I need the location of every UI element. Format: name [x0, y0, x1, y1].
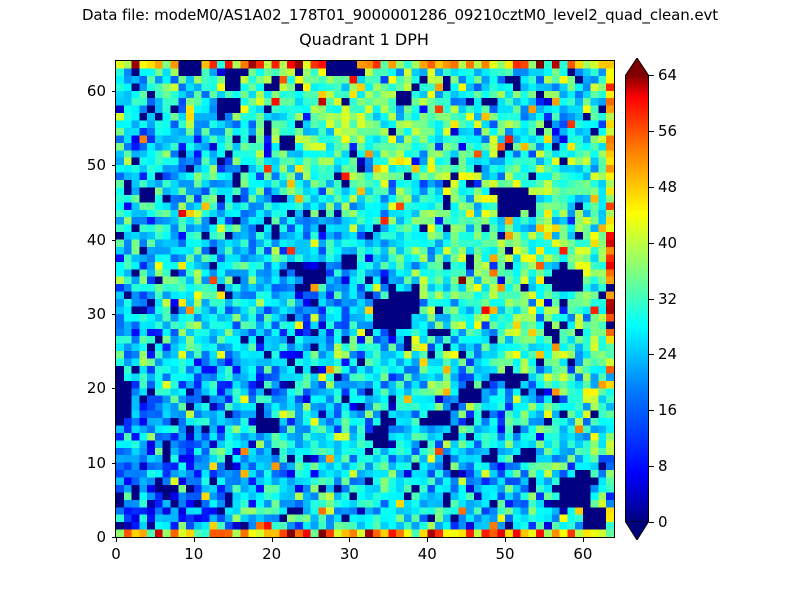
- colorbar-extend-max-arrow-icon: [625, 58, 649, 76]
- y-tick-mark: [112, 165, 116, 166]
- y-tick-label: 10: [87, 454, 106, 472]
- colorbar-tick-mark: [649, 131, 654, 132]
- colorbar-tick-mark: [649, 466, 654, 467]
- y-tick-mark: [112, 240, 116, 241]
- colorbar-tick-mark: [649, 354, 654, 355]
- y-tick-label: 0: [96, 528, 106, 546]
- y-tick-label: 60: [87, 82, 106, 100]
- colorbar-tick-label: 24: [658, 345, 677, 363]
- colorbar-tick-label: 32: [658, 290, 677, 308]
- x-tick-mark: [349, 538, 350, 542]
- x-tick-label: 10: [184, 545, 203, 563]
- y-tick-label: 30: [87, 305, 106, 323]
- x-tick-label: 30: [340, 545, 359, 563]
- y-tick-mark: [112, 314, 116, 315]
- y-tick-mark: [112, 91, 116, 92]
- x-tick-mark: [505, 538, 506, 542]
- y-tick-mark: [112, 537, 116, 538]
- figure-canvas: Data file: modeM0/AS1A02_178T01_90000012…: [0, 0, 800, 600]
- x-tick-label: 60: [573, 545, 592, 563]
- y-tick-label: 20: [87, 379, 106, 397]
- x-tick-label: 40: [418, 545, 437, 563]
- colorbar-tick-label: 8: [658, 457, 668, 475]
- heatmap-axes[interactable]: 0102030405060 0102030405060: [115, 60, 615, 538]
- colorbar-tick-mark: [649, 522, 654, 523]
- y-tick-mark: [112, 463, 116, 464]
- colorbar-tick-mark: [649, 75, 654, 76]
- colorbar-tick-label: 40: [658, 234, 677, 252]
- colorbar-tick-mark: [649, 299, 654, 300]
- colorbar-tick-mark: [649, 243, 654, 244]
- y-tick-label: 40: [87, 231, 106, 249]
- colorbar-tick-label: 0: [658, 513, 668, 531]
- x-tick-label: 50: [496, 545, 515, 563]
- colorbar-tick-mark: [649, 410, 654, 411]
- data-file-label: Data file: modeM0/AS1A02_178T01_90000012…: [0, 6, 800, 24]
- x-tick-mark: [583, 538, 584, 542]
- x-tick-mark: [427, 538, 428, 542]
- plot-title: Quadrant 1 DPH: [115, 30, 613, 49]
- colorbar-gradient: [625, 75, 649, 522]
- colorbar-tick-label: 64: [658, 66, 677, 84]
- colorbar-tick-label: 56: [658, 122, 677, 140]
- colorbar-tick-mark: [649, 187, 654, 188]
- heatmap-image[interactable]: [116, 61, 614, 537]
- colorbar-extend-min-arrow-icon: [625, 521, 649, 540]
- x-tick-label: 20: [262, 545, 281, 563]
- x-tick-mark: [116, 538, 117, 542]
- colorbar-tick-label: 16: [658, 401, 677, 419]
- x-tick-mark: [272, 538, 273, 542]
- x-tick-mark: [194, 538, 195, 542]
- colorbar-tick-label: 48: [658, 178, 677, 196]
- x-tick-label: 0: [111, 545, 121, 563]
- y-tick-mark: [112, 388, 116, 389]
- y-tick-label: 50: [87, 156, 106, 174]
- colorbar[interactable]: 0816243240485664: [625, 58, 649, 540]
